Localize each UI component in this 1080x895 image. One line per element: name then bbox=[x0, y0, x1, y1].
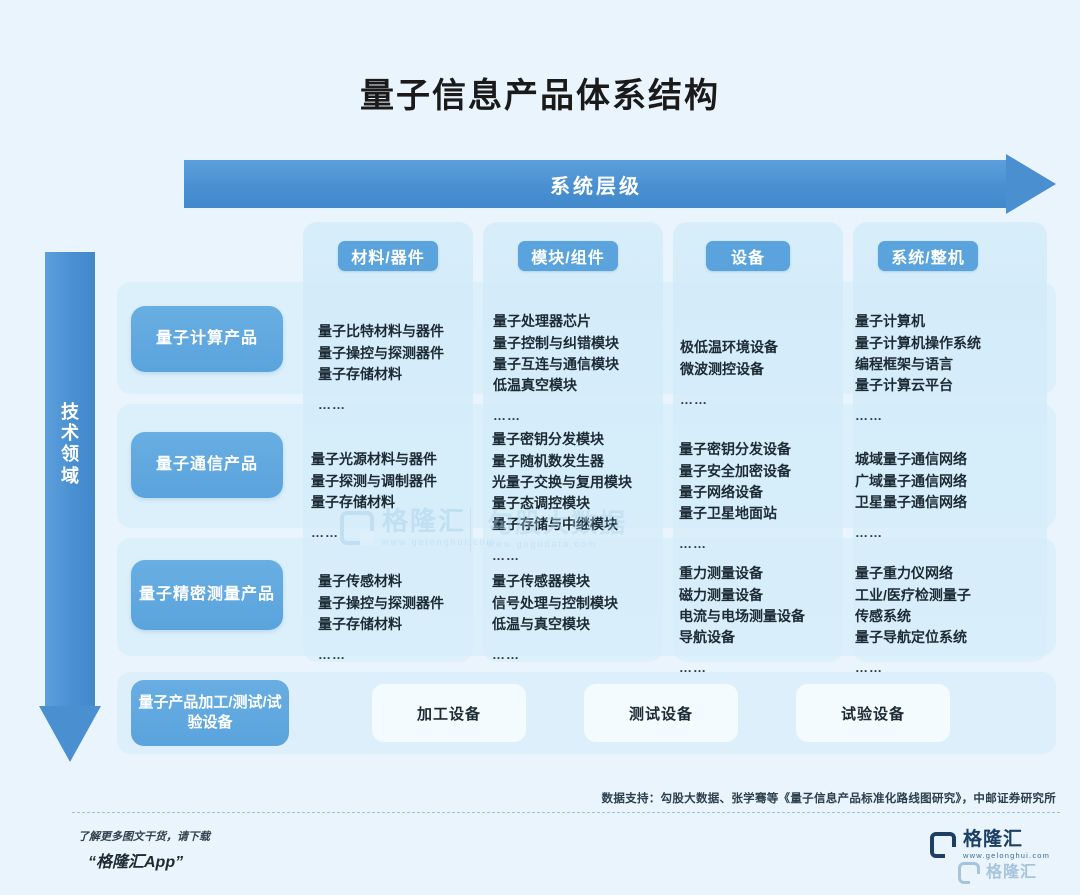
cell-r1-c1-items: 量子密钥分发模块 量子随机数发生器 光量子交换与复用模块 量子态调控模块 量子存… bbox=[492, 431, 632, 532]
bottom-card-processing[interactable]: 加工设备 bbox=[372, 684, 526, 742]
bottom-row-label[interactable]: 量子产品加工/测试/试验设备 bbox=[131, 680, 289, 746]
vertical-label-char-3: 域 bbox=[45, 466, 95, 487]
gelonghui-logo-text-block: 格隆汇 www.gelonghui.com bbox=[963, 830, 1050, 860]
cell-r2-c1: 量子传感器模块 信号处理与控制模块 低温与真空模块 …… bbox=[492, 550, 672, 686]
cell-r2-c0: 量子传感材料 量子操控与探测器件 量子存储材料 …… bbox=[318, 550, 488, 686]
footer-divider bbox=[72, 812, 1060, 813]
cell-r2-c0-more: …… bbox=[318, 645, 488, 665]
column-header-systems[interactable]: 系统/整机 bbox=[878, 241, 978, 271]
page-title: 量子信息产品体系结构 bbox=[0, 68, 1080, 117]
cell-r2-c3-items: 量子重力仪网络 工业/医疗检测量子 传感系统 量子导航定位系统 bbox=[855, 565, 971, 645]
row-label-quantum-metrology[interactable]: 量子精密测量产品 bbox=[131, 560, 283, 630]
gelonghui-brand-logo-ghost: 格隆汇 bbox=[958, 862, 1037, 884]
cell-r1-c3-items: 城域量子通信网络 广域量子通信网络 卫星量子通信网络 bbox=[855, 451, 967, 510]
cell-r0-c3-more: …… bbox=[855, 406, 1045, 426]
cell-r1-c0-items: 量子光源材料与器件 量子探测与调制器件 量子存储材料 bbox=[311, 451, 437, 510]
row-label-quantum-metrology-text: 量子精密测量产品 bbox=[139, 584, 275, 606]
cell-r0-c0: 量子比特材料与器件 量子操控与探测器件 量子存储材料 …… bbox=[318, 300, 478, 436]
cell-r0-c3: 量子计算机 量子计算机操作系统 编程框架与语言 量子计算云平台 …… bbox=[855, 290, 1045, 447]
cell-r0-c2-more: …… bbox=[680, 390, 840, 410]
cell-r1-c0-more: …… bbox=[311, 523, 481, 543]
vertical-label-char-2: 领 bbox=[45, 444, 95, 465]
vertical-label-char-0: 技 bbox=[45, 402, 95, 423]
gelonghui-ghost-logo-icon bbox=[958, 862, 980, 884]
column-header-modules[interactable]: 模块/组件 bbox=[518, 241, 618, 271]
bottom-card-testing[interactable]: 测试设备 bbox=[584, 684, 738, 742]
cell-r1-c2-items: 量子密钥分发设备 量子安全加密设备 量子网络设备 量子卫星地面站 bbox=[679, 441, 791, 521]
cell-r2-c1-items: 量子传感器模块 信号处理与控制模块 低温与真空模块 bbox=[492, 573, 618, 632]
cell-r2-c0-items: 量子传感材料 量子操控与探测器件 量子存储材料 bbox=[318, 573, 444, 632]
vertical-label-char-1: 术 bbox=[45, 423, 95, 444]
row-label-quantum-communication[interactable]: 量子通信产品 bbox=[131, 432, 283, 498]
system-level-arrow: 系统层级 bbox=[184, 154, 1056, 214]
gelonghui-logo-url: www.gelonghui.com bbox=[963, 851, 1050, 860]
cell-r0-c2-items: 极低温环境设备 微波测控设备 bbox=[680, 339, 778, 376]
promo-subtitle: 了解更多图文干货，请下载 bbox=[78, 828, 210, 844]
system-level-arrow-label: 系统层级 bbox=[184, 160, 1008, 208]
gelonghui-ghost-logo-name: 格隆汇 bbox=[986, 865, 1037, 881]
technology-domain-arrow-label: 技 术 领 域 bbox=[45, 402, 95, 487]
cell-r0-c3-items: 量子计算机 量子计算机操作系统 编程框架与语言 量子计算云平台 bbox=[855, 313, 981, 393]
column-header-materials[interactable]: 材料/器件 bbox=[338, 241, 438, 271]
cell-r2-c1-more: …… bbox=[492, 645, 672, 665]
promo-app-name: “格隆汇App” bbox=[88, 848, 183, 872]
cell-r1-c0: 量子光源材料与器件 量子探测与调制器件 量子存储材料 …… bbox=[311, 428, 481, 564]
source-attribution: 数据支持：勾股大数据、张学骞等《量子信息产品标准化路线图研究》，中邮证券研究所 bbox=[602, 790, 1056, 806]
technology-domain-arrow: 技 术 领 域 bbox=[39, 252, 101, 762]
vertical-arrow-head-icon bbox=[39, 706, 101, 762]
gelonghui-logo-name: 格隆汇 bbox=[963, 830, 1050, 849]
cell-r0-c1-items: 量子处理器芯片 量子控制与纠错模块 量子互连与通信模块 低温真空模块 bbox=[493, 313, 619, 393]
row-label-quantum-computing[interactable]: 量子计算产品 bbox=[131, 306, 283, 372]
cell-r1-c3-more: …… bbox=[855, 523, 1045, 543]
gelonghui-brand-logo[interactable]: 格隆汇 www.gelonghui.com bbox=[930, 830, 1050, 860]
bottom-card-trial[interactable]: 试验设备 bbox=[796, 684, 950, 742]
cell-r0-c0-items: 量子比特材料与器件 量子操控与探测器件 量子存储材料 bbox=[318, 323, 444, 382]
cell-r0-c2: 极低温环境设备 微波测控设备 …… bbox=[680, 316, 840, 431]
column-header-equipment[interactable]: 设备 bbox=[706, 241, 790, 271]
infographic-canvas: 量子信息产品体系结构 系统层级 技 术 领 域 材料/器件 模块/组件 设备 系… bbox=[0, 0, 1080, 895]
watermark-divider bbox=[470, 508, 471, 552]
cell-r0-c0-more: …… bbox=[318, 395, 478, 415]
cell-r2-c2-items: 重力测量设备 磁力测量设备 电流与电场测量设备 导航设备 bbox=[679, 565, 805, 645]
gelonghui-logo-icon bbox=[930, 832, 956, 858]
horizontal-arrow-head-icon bbox=[1006, 154, 1056, 214]
